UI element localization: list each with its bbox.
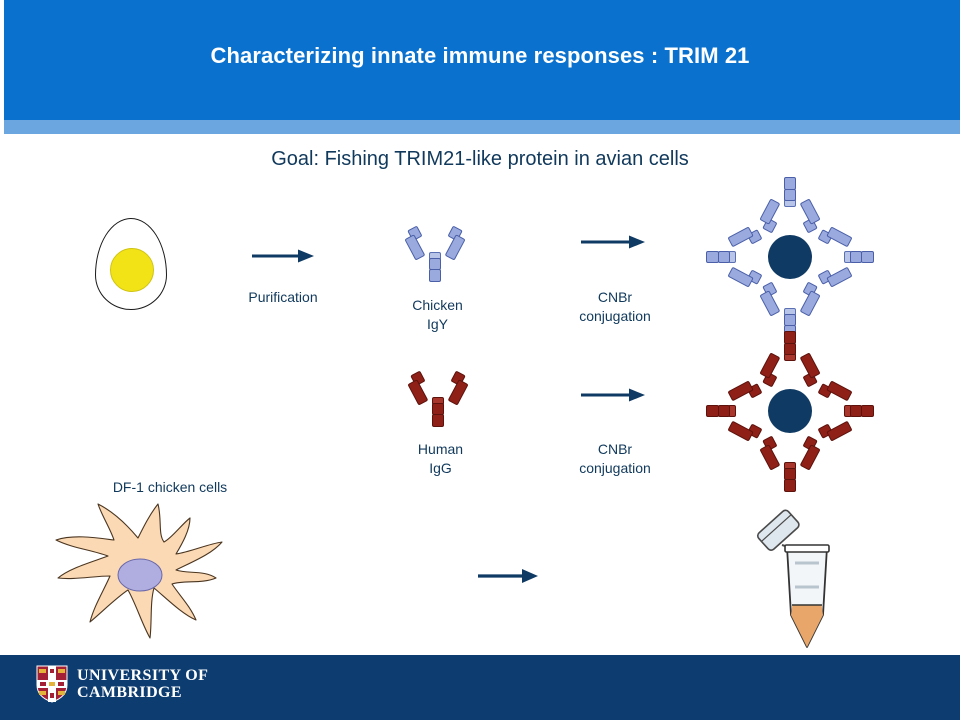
egg-illustration xyxy=(95,218,175,310)
bead-antibody-top-icon xyxy=(767,329,813,381)
tube-collar-icon xyxy=(785,545,829,552)
antibody-stem-lower xyxy=(861,251,874,263)
label-chicken-igy: Chicken IgY xyxy=(380,296,495,334)
antibody-arm-left-lower xyxy=(759,444,780,470)
arrow-purification-icon xyxy=(252,246,316,266)
eppendorf-tube-illustration xyxy=(735,505,855,665)
antibody-chicken-igy-icon xyxy=(412,232,458,284)
bead-cluster-igy xyxy=(705,183,875,333)
antibody-arm-right-lower xyxy=(445,234,466,260)
bead-cluster-igg xyxy=(705,337,875,487)
arrow-cnbr-conjugation-bottom-icon xyxy=(581,385,647,405)
cambridge-crest-icon xyxy=(36,665,68,703)
label-cnbr-conjugation-top: CNBr conjugation xyxy=(545,288,685,326)
antibody-arm-right-lower xyxy=(448,379,469,405)
antibody-arm-right-lower xyxy=(759,352,780,378)
antibody-arm-left-lower xyxy=(800,198,821,224)
antibody-human-igg-icon xyxy=(415,377,461,429)
cnbr-bead-icon xyxy=(768,389,812,433)
logo-line-2: CAMBRIDGE xyxy=(77,684,208,701)
antibody-stem-upper xyxy=(718,251,730,263)
antibody-stem-lower xyxy=(706,405,719,417)
antibody-arm-right-lower xyxy=(826,380,852,401)
antibody-stem-upper xyxy=(784,343,796,355)
egg-yolk-icon xyxy=(110,248,154,292)
antibody-stem-lower xyxy=(861,405,874,417)
cambridge-logo: UNIVERSITY OF CAMBRIDGE xyxy=(36,665,208,703)
logo-line-1: UNIVERSITY OF xyxy=(77,667,208,684)
bead-antibody-left-icon xyxy=(704,388,756,434)
label-cnbr-conjugation-bottom: CNBr conjugation xyxy=(545,440,685,478)
antibody-arm-left-lower xyxy=(404,234,425,260)
label-human-igg: Human IgG xyxy=(383,440,498,478)
antibody-arm-left-lower xyxy=(407,379,428,405)
cnbr-bead-icon xyxy=(768,235,812,279)
antibody-arm-right-lower xyxy=(826,226,852,247)
bead-antibody-right-icon xyxy=(824,234,876,280)
antibody-arm-left-lower xyxy=(759,290,780,316)
antibody-arm-right-lower xyxy=(727,421,753,442)
arrow-lysate-icon xyxy=(478,566,540,586)
slide-canvas: Characterizing innate immune responses :… xyxy=(0,0,960,720)
bead-antibody-right-icon xyxy=(824,388,876,434)
bead-antibody-left-icon xyxy=(704,234,756,280)
df1-cell-illustration xyxy=(40,500,240,650)
antibody-stem-lower xyxy=(784,177,796,190)
goal-statement: Goal: Fishing TRIM21-like protein in avi… xyxy=(180,148,780,171)
antibody-arm-right-lower xyxy=(800,444,821,470)
antibody-stem-lower xyxy=(429,269,441,282)
bead-antibody-bottom-icon xyxy=(767,442,813,494)
antibody-arm-left-lower xyxy=(727,380,753,401)
cell-nucleus-icon xyxy=(118,559,162,591)
antibody-stem-lower xyxy=(432,414,444,427)
antibody-stem-lower xyxy=(784,331,796,344)
antibody-stem-lower xyxy=(706,251,719,263)
bead-antibody-top-icon xyxy=(767,175,813,227)
antibody-arm-right-lower xyxy=(759,198,780,224)
slide-title: Characterizing innate immune responses :… xyxy=(0,43,960,69)
antibody-stem-lower xyxy=(784,479,796,492)
antibody-arm-left-lower xyxy=(826,421,852,442)
label-purification: Purification xyxy=(218,288,348,307)
antibody-arm-left-lower xyxy=(826,267,852,288)
header-accent-strip xyxy=(4,120,960,134)
label-df1-chicken-cells: DF-1 chicken cells xyxy=(70,478,270,497)
antibody-arm-right-lower xyxy=(727,267,753,288)
arrow-cnbr-conjugation-top-icon xyxy=(581,232,647,252)
antibody-arm-left-lower xyxy=(800,352,821,378)
antibody-stem-upper xyxy=(784,189,796,201)
antibody-stem-upper xyxy=(718,405,730,417)
antibody-arm-left-lower xyxy=(727,226,753,247)
antibody-arm-right-lower xyxy=(800,290,821,316)
